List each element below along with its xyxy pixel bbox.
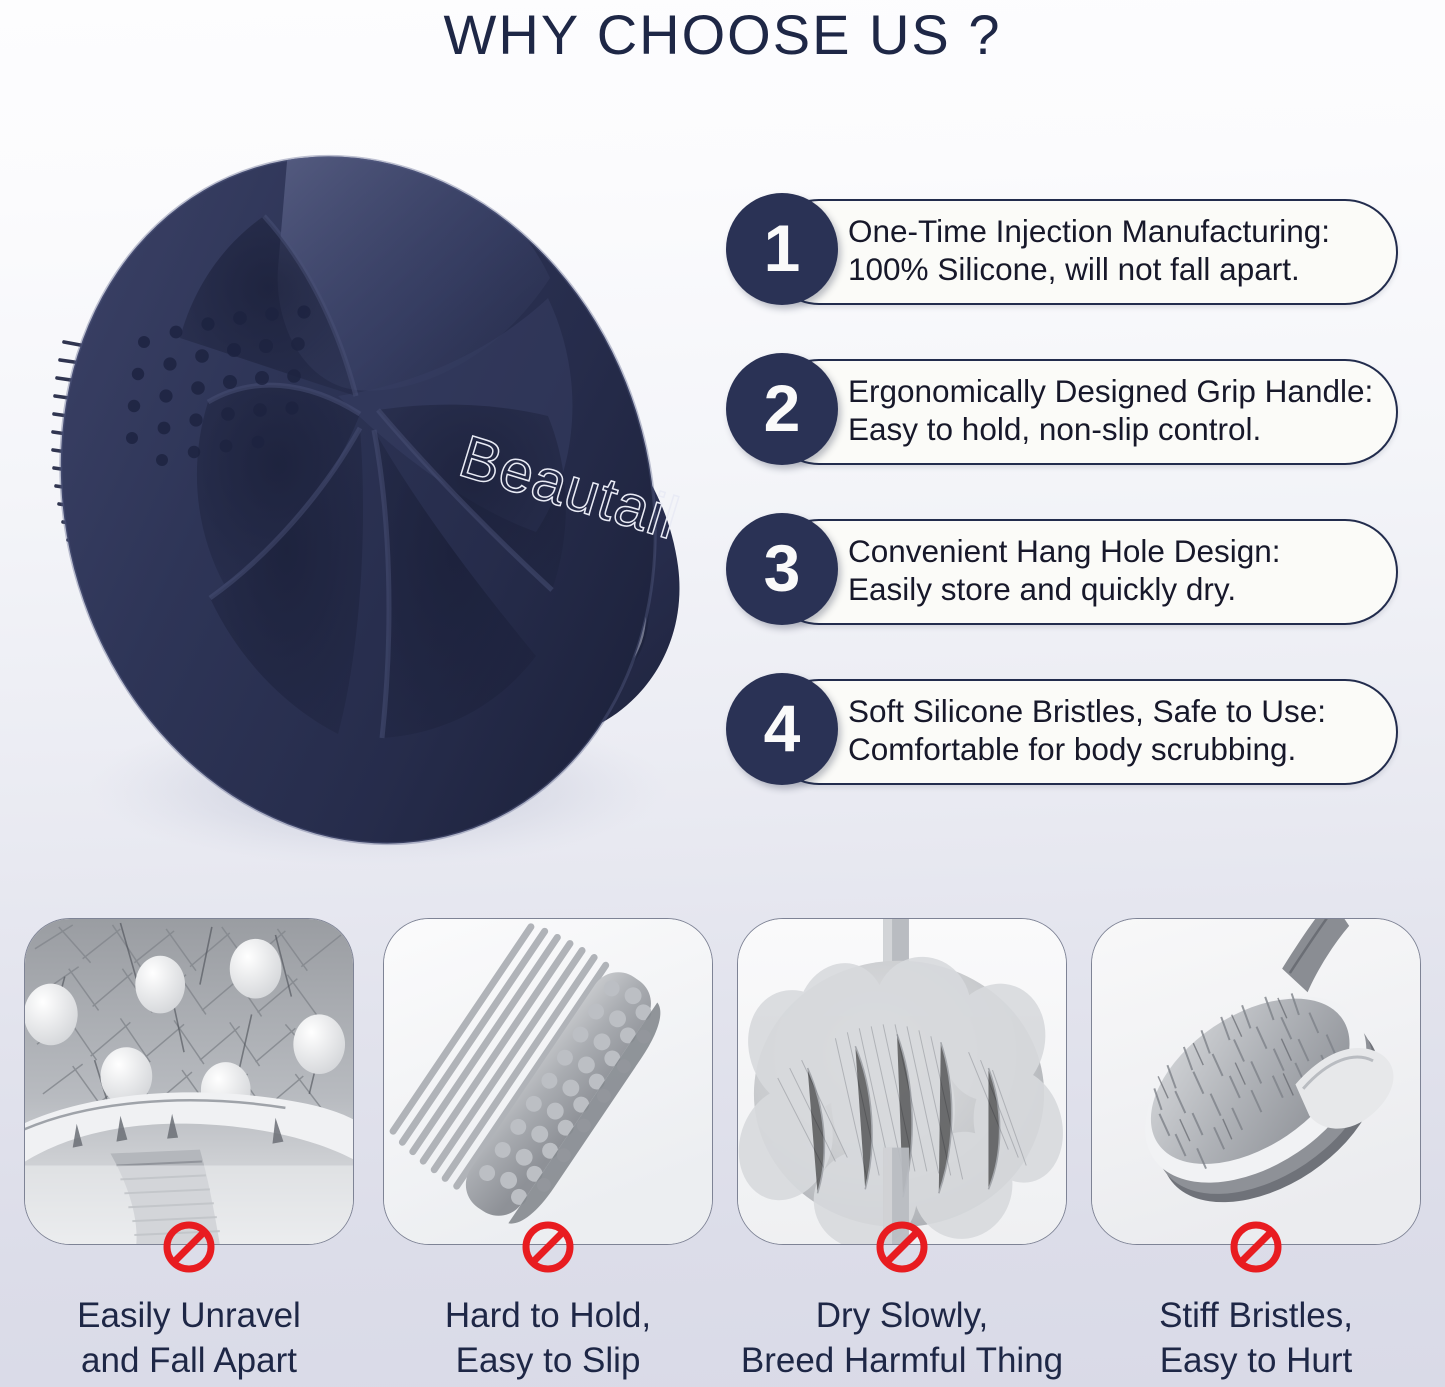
caption-line-2: Breed Harmful Thing	[737, 1338, 1067, 1383]
feature-item-2[interactable]: 2 Ergonomically Designed Grip Handle: Ea…	[726, 353, 1398, 470]
feature-number: 3	[764, 535, 801, 601]
feature-text: Convenient Hang Hole Design: Easily stor…	[848, 532, 1380, 608]
feature-number: 2	[764, 375, 801, 441]
prohibition-icon	[520, 1219, 576, 1275]
comparison-item-2: Hard to Hold, Easy to Slip	[383, 918, 713, 1383]
feature-line-1: Ergonomically Designed Grip Handle:	[848, 372, 1380, 410]
feature-number: 4	[764, 695, 801, 761]
feature-item-3[interactable]: 3 Convenient Hang Hole Design: Easily st…	[726, 513, 1398, 630]
feature-line-2: Easy to hold, non-slip control.	[848, 410, 1380, 448]
feature-text: Ergonomically Designed Grip Handle: Easy…	[848, 372, 1380, 448]
feature-line-1: Convenient Hang Hole Design:	[848, 532, 1380, 570]
feature-text: One-Time Injection Manufacturing: 100% S…	[848, 212, 1380, 288]
feature-item-1[interactable]: 1 One-Time Injection Manufacturing: 100%…	[726, 193, 1398, 310]
prohibition-icon	[874, 1219, 930, 1275]
feature-line-1: One-Time Injection Manufacturing:	[848, 212, 1380, 250]
caption-line-1: Easily Unravel	[24, 1293, 354, 1338]
comparison-photo-frame	[383, 918, 713, 1245]
feature-number: 1	[764, 215, 801, 281]
comparison-photo-frame	[1091, 918, 1421, 1245]
feature-line-2: 100% Silicone, will not fall apart.	[848, 250, 1380, 288]
caption-line-1: Hard to Hold,	[383, 1293, 713, 1338]
caption-line-1: Stiff Bristles,	[1091, 1293, 1421, 1338]
comparison-caption: Hard to Hold, Easy to Slip	[383, 1293, 713, 1383]
page-title: WHY CHOOSE US ?	[0, 2, 1445, 67]
feature-number-badge: 3	[726, 513, 838, 625]
comparison-photo-frame	[737, 918, 1067, 1245]
caption-line-1: Dry Slowly,	[737, 1293, 1067, 1338]
comparison-item-1: Easily Unravel and Fall Apart	[24, 918, 354, 1383]
infographic-page: WHY CHOOSE US ?	[0, 0, 1445, 1387]
comparison-row: Easily Unravel and Fall Apart	[0, 918, 1445, 1387]
prohibition-icon	[1228, 1219, 1284, 1275]
comparison-caption: Dry Slowly, Breed Harmful Thing	[737, 1293, 1067, 1383]
caption-line-2: Easy to Hurt	[1091, 1338, 1421, 1383]
feature-number-badge: 2	[726, 353, 838, 465]
prohibition-icon	[161, 1219, 217, 1275]
comparison-photo-frame	[24, 918, 354, 1245]
caption-line-2: Easy to Slip	[383, 1338, 713, 1383]
comparison-item-3: Dry Slowly, Breed Harmful Thing	[737, 918, 1067, 1383]
feature-item-4[interactable]: 4 Soft Silicone Bristles, Safe to Use: C…	[726, 673, 1398, 790]
comparison-caption: Easily Unravel and Fall Apart	[24, 1293, 354, 1383]
feature-line-2: Comfortable for body scrubbing.	[848, 730, 1380, 768]
product-hero-image: Beautail	[38, 128, 708, 873]
comparison-caption: Stiff Bristles, Easy to Hurt	[1091, 1293, 1421, 1383]
caption-line-2: and Fall Apart	[24, 1338, 354, 1383]
feature-list: 1 One-Time Injection Manufacturing: 100%…	[726, 193, 1398, 833]
feature-text: Soft Silicone Bristles, Safe to Use: Com…	[848, 692, 1380, 768]
feature-number-badge: 4	[726, 673, 838, 785]
comparison-item-4: Stiff Bristles, Easy to Hurt	[1091, 918, 1421, 1383]
feature-line-2: Easily store and quickly dry.	[848, 570, 1380, 608]
feature-number-badge: 1	[726, 193, 838, 305]
feature-line-1: Soft Silicone Bristles, Safe to Use:	[848, 692, 1380, 730]
